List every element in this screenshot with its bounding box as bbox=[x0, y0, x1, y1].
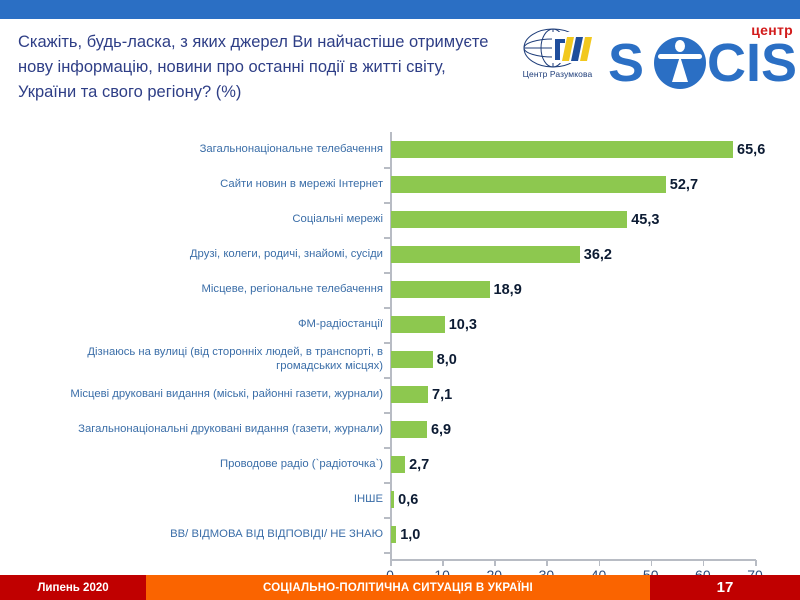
logo-group: Центр Разумкова центр S CIS bbox=[505, 22, 797, 94]
x-axis-tick bbox=[651, 560, 653, 566]
bar-row: ФМ-радіостанції10,3 bbox=[0, 307, 800, 342]
bar-category-label: Соціальні мережі bbox=[28, 202, 383, 237]
footer-date-label: Липень 2020 bbox=[37, 582, 108, 594]
bar-and-value: 8,0 bbox=[391, 342, 457, 377]
bar-and-value: 52,7 bbox=[391, 167, 698, 202]
bar-and-value: 1,0 bbox=[391, 517, 420, 552]
footer-page: 17 bbox=[650, 575, 800, 600]
bar-row: Загальнонаціональні друковані видання (г… bbox=[0, 412, 800, 447]
bar-category-label: Загальнонаціональне телебачення bbox=[28, 132, 383, 167]
x-axis-tick bbox=[599, 560, 601, 566]
bar bbox=[391, 141, 733, 158]
bar-row: Загальнонаціональне телебачення65,6 bbox=[0, 132, 800, 167]
bar-row: Соціальні мережі45,3 bbox=[0, 202, 800, 237]
bar-row: Сайти новин в мережі Інтернет52,7 bbox=[0, 167, 800, 202]
bar-row: Проводове радіо (`радіоточка`)2,7 bbox=[0, 447, 800, 482]
top-blue-bar bbox=[0, 0, 800, 19]
razumkov-globe-icon bbox=[505, 27, 610, 71]
bar-row: Друзі, колеги, родичі, знайомі, сусіди36… bbox=[0, 237, 800, 272]
bar-value-label: 10,3 bbox=[449, 317, 477, 333]
bar-value-label: 18,9 bbox=[494, 282, 522, 298]
bar-value-label: 6,9 bbox=[431, 422, 451, 438]
bar-value-label: 8,0 bbox=[437, 352, 457, 368]
bar bbox=[391, 526, 396, 543]
category-axis-tick bbox=[384, 552, 390, 554]
bar-and-value: 0,6 bbox=[391, 482, 418, 517]
footer-page-number: 17 bbox=[717, 579, 734, 596]
bar-value-label: 1,0 bbox=[400, 527, 420, 543]
bar bbox=[391, 246, 580, 263]
bar bbox=[391, 211, 627, 228]
bar-row: ІНШЕ0,6 bbox=[0, 482, 800, 517]
bar-value-label: 0,6 bbox=[398, 492, 418, 508]
bar-value-label: 2,7 bbox=[409, 457, 429, 473]
bar-category-label: Проводове радіо (`радіоточка`) bbox=[28, 447, 383, 482]
bar-row: Дізнаюсь на вулиці (від сторонніх людей,… bbox=[0, 342, 800, 377]
bar bbox=[391, 351, 433, 368]
x-axis-tick bbox=[703, 560, 705, 566]
bar bbox=[391, 491, 394, 508]
bar bbox=[391, 421, 427, 438]
slide: Скажіть, будь-ласка, з яких джерел Ви на… bbox=[0, 0, 800, 600]
bar-value-label: 7,1 bbox=[432, 387, 452, 403]
bar-value-label: 45,3 bbox=[631, 212, 659, 228]
bar-row: ВВ/ ВІДМОВА ВІД ВІДПОВІДІ/ НЕ ЗНАЮ1,0 bbox=[0, 517, 800, 552]
bar-chart: Загальнонаціональне телебачення65,6Сайти… bbox=[0, 120, 800, 570]
bar-value-label: 52,7 bbox=[670, 177, 698, 193]
bar-row: Місцеві друковані видання (міські, район… bbox=[0, 377, 800, 412]
bar-category-label: Місцеве, регіональне телебачення bbox=[28, 272, 383, 307]
page-title: Скажіть, будь-ласка, з яких джерел Ви на… bbox=[18, 30, 498, 105]
bar-value-label: 65,6 bbox=[737, 142, 765, 158]
bar-category-label: Дізнаюсь на вулиці (від сторонніх людей,… bbox=[28, 342, 383, 377]
bar-category-label: ІНШЕ bbox=[28, 482, 383, 517]
bar-and-value: 45,3 bbox=[391, 202, 659, 237]
bar bbox=[391, 281, 490, 298]
top-bar-underline bbox=[0, 19, 800, 21]
bar-category-label: Загальнонаціональні друковані видання (г… bbox=[28, 412, 383, 447]
bar-and-value: 18,9 bbox=[391, 272, 522, 307]
footer-date: Липень 2020 bbox=[0, 575, 146, 600]
bar-and-value: 36,2 bbox=[391, 237, 612, 272]
x-axis-tick bbox=[546, 560, 548, 566]
bar-and-value: 6,9 bbox=[391, 412, 451, 447]
bar-category-label: ВВ/ ВІДМОВА ВІД ВІДПОВІДІ/ НЕ ЗНАЮ bbox=[28, 517, 383, 552]
x-axis-tick bbox=[390, 560, 392, 566]
bar-and-value: 2,7 bbox=[391, 447, 429, 482]
bar-row: Місцеве, регіональне телебачення18,9 bbox=[0, 272, 800, 307]
bar-category-label: ФМ-радіостанції bbox=[28, 307, 383, 342]
bar-category-label: Друзі, колеги, родичі, знайомі, сусіди bbox=[28, 237, 383, 272]
x-axis-tick bbox=[494, 560, 496, 566]
bar-value-label: 36,2 bbox=[584, 247, 612, 263]
x-axis-tick bbox=[755, 560, 757, 566]
bar-and-value: 10,3 bbox=[391, 307, 477, 342]
bar-category-label: Місцеві друковані видання (міські, район… bbox=[28, 377, 383, 412]
bar bbox=[391, 176, 666, 193]
razumkov-logo: Центр Разумкова bbox=[505, 27, 610, 89]
bar-category-label: Сайти новин в мережі Інтернет bbox=[28, 167, 383, 202]
footer: Липень 2020 СОЦІАЛЬНО-ПОЛІТИЧНА СИТУАЦІЯ… bbox=[0, 575, 800, 600]
x-axis-tick bbox=[442, 560, 444, 566]
razumkov-logo-label: Центр Разумкова bbox=[505, 69, 610, 79]
bar-and-value: 65,6 bbox=[391, 132, 765, 167]
footer-caption-label: СОЦІАЛЬНО-ПОЛІТИЧНА СИТУАЦІЯ В УКРАЇНІ bbox=[263, 582, 533, 594]
bar-and-value: 7,1 bbox=[391, 377, 452, 412]
bar bbox=[391, 456, 405, 473]
svg-text:CIS: CIS bbox=[707, 34, 797, 92]
bar bbox=[391, 386, 428, 403]
bar bbox=[391, 316, 445, 333]
socis-wordmark-icon: S CIS bbox=[608, 34, 798, 92]
socis-logo: центр S CIS bbox=[608, 22, 798, 94]
svg-text:S: S bbox=[608, 34, 644, 92]
footer-caption: СОЦІАЛЬНО-ПОЛІТИЧНА СИТУАЦІЯ В УКРАЇНІ bbox=[146, 575, 650, 600]
